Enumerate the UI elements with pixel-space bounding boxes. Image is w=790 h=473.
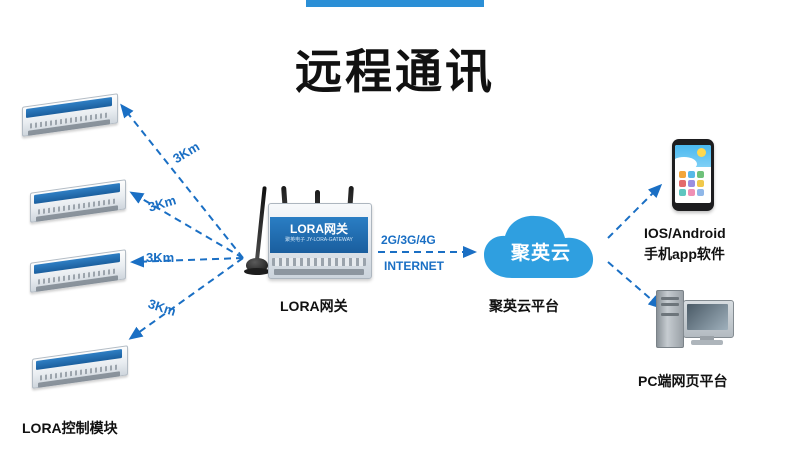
tower-slot [661,297,679,300]
lora-module-2 [30,178,128,222]
lora-module-4 [32,344,130,388]
cloud-caption: 聚英云平台 [489,296,559,316]
pc-tower [656,290,684,348]
phone-app-icons [678,170,708,200]
top-accent-bar [306,0,484,7]
lora-module-1 [22,92,120,136]
gateway-main-antenna [244,186,268,286]
tower-slot [661,303,679,306]
phone-screen [675,145,711,203]
tower-slot [661,313,679,316]
gateway-caption: LORA网关 [280,296,348,316]
sun-icon [697,148,706,157]
lora-modules-label: LORA控制模块 [22,418,118,438]
phone-caption-line1: IOS/Android [644,225,726,241]
lora-gateway-device: LORA网关 聚英电子 JY-LORA-GATEWAY [268,203,370,283]
gateway-terminal-strip [272,258,366,266]
distance-label-3: 3Km [146,250,174,265]
network-type-label: 2G/3G/4G [381,233,436,247]
pc-caption: PC端网页平台 [638,371,727,391]
cloud-name: 聚英云 [480,238,602,265]
gateway-panel-sublabel: 聚英电子 JY-LORA-GATEWAY [268,236,370,243]
internet-label: INTERNET [384,259,444,273]
cloud-platform: 聚英云 [480,212,602,284]
distance-label-2: 3Km [146,192,177,214]
antenna-rod [255,186,267,260]
distance-label-1: 3Km [170,139,202,166]
monitor-base [691,340,723,345]
antenna-foot [244,268,270,275]
gateway-base [274,269,364,275]
phone-caption-line2: 手机app软件 [644,244,725,264]
pc-monitor [683,300,734,338]
monitor-screen [687,304,728,330]
lora-module-3 [30,248,128,292]
distance-label-4: 3Km [146,296,177,319]
mobile-phone-device [672,139,714,211]
cloud-icon [675,157,697,171]
diagram-canvas: 远程通讯 [0,0,790,473]
pc-device [656,290,734,355]
gateway-panel-label: LORA网关 [268,220,370,237]
